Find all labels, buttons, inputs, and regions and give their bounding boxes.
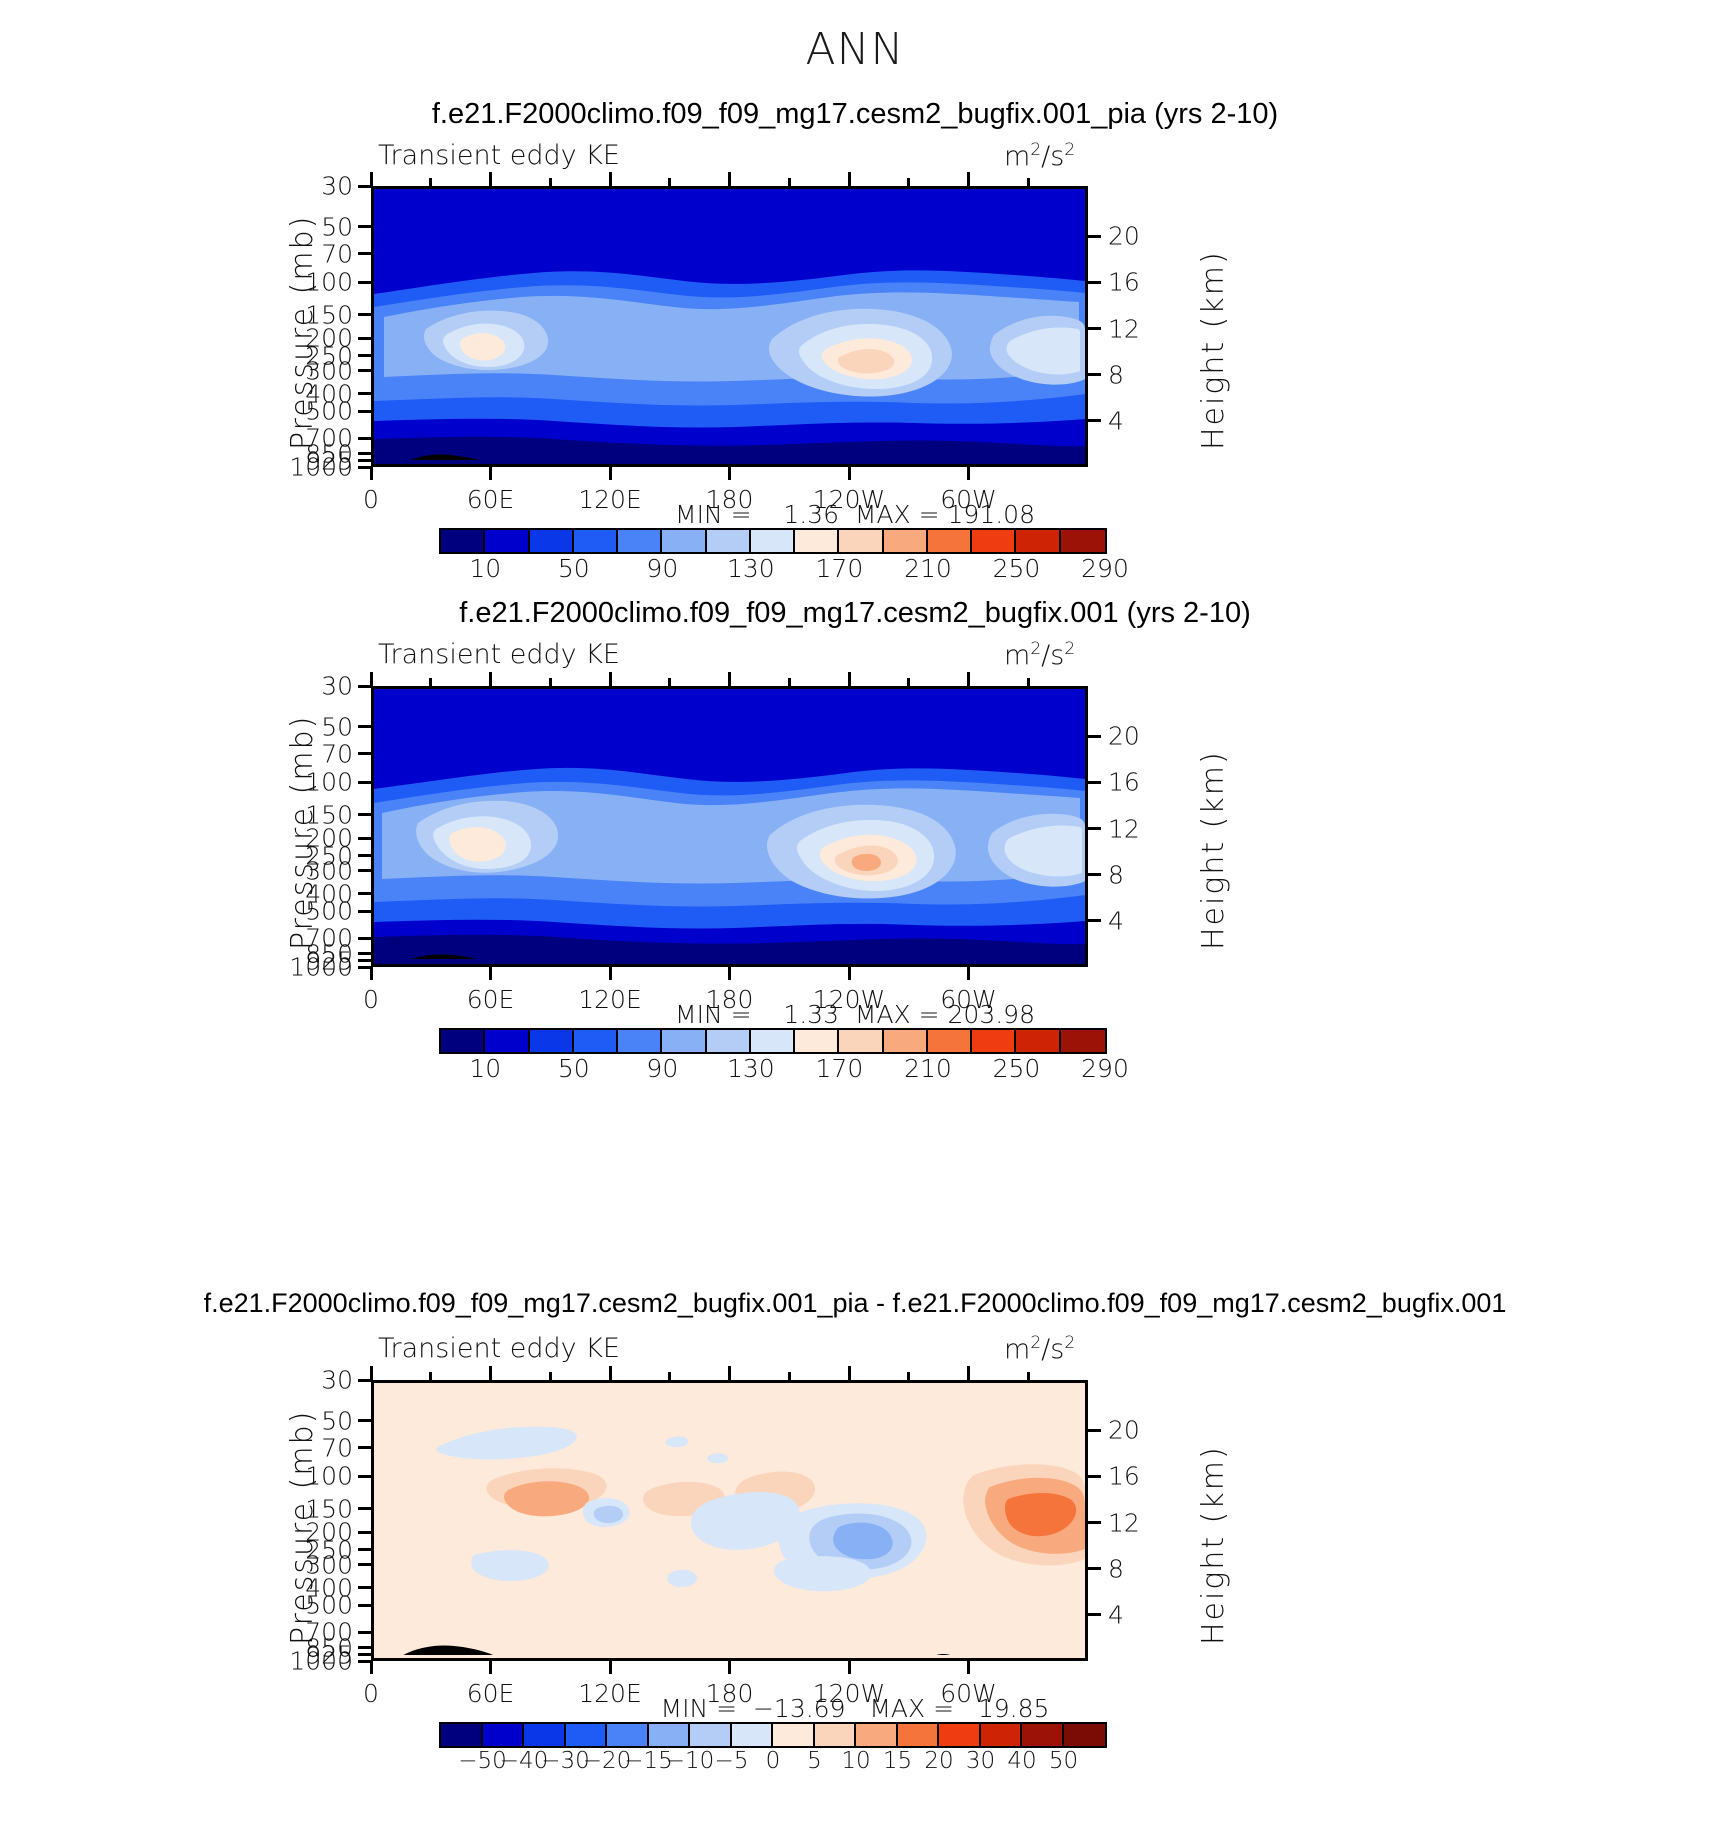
colorbar-label: 50 (558, 554, 590, 583)
panel-top-contours (374, 189, 1085, 464)
xtick-mark-top (609, 1366, 612, 1380)
xtick-mark-top-minor (429, 1372, 432, 1380)
ytick-label-30: 30 (241, 1366, 353, 1395)
season-title: ANN (0, 24, 1710, 75)
ytick-mark-right (1088, 281, 1101, 284)
ytick-mark-right (1088, 1521, 1101, 1524)
panel-diff-title: f.e21.F2000climo.f09_f09_mg17.cesm2_bugf… (0, 1288, 1710, 1319)
colorbar-swatch (1064, 1724, 1106, 1746)
xtick-mark-top (967, 172, 970, 186)
colorbar-swatch (884, 530, 928, 552)
colorbar-swatch (566, 1724, 608, 1746)
colorbar-swatch (618, 530, 662, 552)
colorbar-swatch (618, 1030, 662, 1052)
xtick-label-120E: 120E (578, 485, 642, 514)
xtick-mark-top-minor (668, 1372, 671, 1380)
colorbar-swatch (732, 1724, 774, 1746)
xtick-mark-top (489, 672, 492, 686)
ytick-label-50: 50 (241, 212, 353, 241)
colorbar-strip[interactable] (439, 528, 1107, 554)
xtick-label-60W: 60W (940, 985, 997, 1014)
xtick-label-0: 0 (363, 1679, 379, 1708)
panel-middle-plot (371, 686, 1088, 967)
colorbar-label: 250 (993, 1054, 1041, 1083)
colorbar-swatch (441, 1030, 485, 1052)
panel-middle-variable-label: Transient eddy KE (378, 639, 620, 670)
height-label-4: 4 (1108, 906, 1198, 935)
xtick-mark-top (728, 1366, 731, 1380)
xtick-mark-bottom (967, 467, 970, 480)
xtick-mark-top (370, 172, 373, 186)
ytick-mark-left (358, 225, 371, 228)
panel-top-plot (371, 186, 1088, 467)
colorbar-swatch (524, 1724, 566, 1746)
panel-top-title: f.e21.F2000climo.f09_f09_mg17.cesm2_bugf… (0, 98, 1710, 131)
panel-middle-units-label: m2/s2 (1004, 639, 1075, 671)
xtick-mark-top-minor (549, 678, 552, 686)
colorbar-swatch (815, 1724, 857, 1746)
colorbar-label: 130 (727, 554, 775, 583)
ytick-mark-left (358, 1586, 371, 1589)
ytick-label-500: 500 (241, 1591, 353, 1620)
colorbar-label: 210 (904, 554, 952, 583)
xtick-label-60E: 60E (467, 985, 515, 1014)
ytick-mark-left (358, 781, 371, 784)
panel-diff-contours (374, 1383, 1085, 1658)
xtick-mark-bottom (609, 467, 612, 480)
ytick-mark-left (358, 1548, 371, 1551)
xtick-mark-bottom (489, 967, 492, 980)
xtick-mark-top-minor (429, 178, 432, 186)
height-label-20: 20 (1108, 722, 1198, 751)
ytick-mark-right (1088, 1429, 1101, 1432)
colorbar-label: 5 (807, 1748, 822, 1774)
panel-diff-ylabel-right: Height (km) (1196, 1445, 1231, 1645)
colorbar-swatch (662, 1030, 706, 1052)
xtick-mark-bottom (609, 1661, 612, 1674)
xtick-mark-bottom (848, 967, 851, 980)
colorbar-label: 90 (646, 1054, 678, 1083)
colorbar-label: 15 (883, 1748, 912, 1774)
ytick-mark-left (358, 252, 371, 255)
ytick-mark-left (358, 459, 371, 462)
ytick-mark-left (358, 452, 371, 455)
ytick-mark-left (358, 1604, 371, 1607)
panel-middle-title: f.e21.F2000climo.f09_f09_mg17.cesm2_bugf… (0, 597, 1710, 630)
xtick-label-180: 180 (706, 485, 754, 514)
xtick-label-60E: 60E (467, 485, 515, 514)
ytick-label-1000: 1000 (241, 953, 353, 982)
ytick-mark-right (1088, 235, 1101, 238)
ytick-mark-left (358, 813, 371, 816)
xtick-label-60E: 60E (467, 1679, 515, 1708)
colorbar-swatch (662, 530, 706, 552)
xtick-mark-top-minor (1027, 178, 1030, 186)
ytick-mark-left (358, 1646, 371, 1649)
ytick-mark-left (358, 354, 371, 357)
ytick-mark-left (358, 437, 371, 440)
colorbar-label: 290 (1081, 1054, 1129, 1083)
ytick-label-30: 30 (241, 672, 353, 701)
colorbar-swatch (981, 1724, 1023, 1746)
ytick-label-70: 70 (241, 239, 353, 268)
xtick-mark-top-minor (907, 178, 910, 186)
xtick-label-0: 0 (363, 485, 379, 514)
xtick-mark-top (370, 1366, 373, 1380)
xtick-mark-top (848, 172, 851, 186)
colorbar-swatch (530, 530, 574, 552)
xtick-mark-top-minor (1027, 1372, 1030, 1380)
height-label-12: 12 (1108, 814, 1198, 843)
xtick-mark-bottom (967, 1661, 970, 1674)
panel-diff-plot (371, 1380, 1088, 1661)
colorbar-swatch (795, 530, 839, 552)
xtick-label-60W: 60W (940, 1679, 997, 1708)
colorbar-swatch (530, 1030, 574, 1052)
ytick-label-100: 100 (241, 768, 353, 797)
xtick-mark-top (370, 672, 373, 686)
colorbar-label: 170 (816, 554, 864, 583)
height-label-8: 8 (1108, 1554, 1198, 1583)
figure-root: ANN f.e21.F2000climo.f09_f09_mg17.cesm2_… (0, 0, 1710, 1843)
colorbar-swatch (972, 530, 1016, 552)
height-label-4: 4 (1108, 406, 1198, 435)
xtick-mark-top (848, 1366, 851, 1380)
xtick-label-120W: 120W (813, 1679, 885, 1708)
height-label-20: 20 (1108, 222, 1198, 251)
ytick-mark-left (358, 725, 371, 728)
colorbar-swatch (485, 1030, 529, 1052)
xtick-mark-bottom (370, 467, 373, 480)
panel-top-units-label: m2/s2 (1004, 140, 1075, 172)
colorbar-swatch (839, 1030, 883, 1052)
xtick-mark-bottom (609, 967, 612, 980)
xtick-label-120E: 120E (578, 985, 642, 1014)
ytick-label-1000: 1000 (241, 1647, 353, 1676)
xtick-label-180: 180 (706, 1679, 754, 1708)
ytick-label-500: 500 (241, 897, 353, 926)
colorbar-label: 0 (766, 1748, 781, 1774)
ytick-mark-right (1088, 1567, 1101, 1570)
height-label-16: 16 (1108, 768, 1198, 797)
ytick-mark-left (358, 959, 371, 962)
height-label-4: 4 (1108, 1600, 1198, 1629)
colorbar-label: 50 (558, 1054, 590, 1083)
colorbar-swatch (928, 530, 972, 552)
ytick-mark-left (358, 1531, 371, 1534)
colorbar-swatch (751, 530, 795, 552)
xtick-mark-bottom (728, 467, 731, 480)
ytick-mark-right (1088, 1613, 1101, 1616)
ytick-mark-right (1088, 919, 1101, 922)
colorbar-swatch (751, 1030, 795, 1052)
colorbar-label: 250 (993, 554, 1041, 583)
colorbar-swatch (441, 530, 485, 552)
ytick-label-500: 500 (241, 397, 353, 426)
xtick-mark-top-minor (549, 1372, 552, 1380)
panel-diff-variable-label: Transient eddy KE (378, 1333, 620, 1364)
panel-diff-colorbar[interactable]: −50−40−30−20−15−10−505101520304050 (439, 1722, 1107, 1780)
ytick-mark-right (1088, 735, 1101, 738)
xtick-label-60W: 60W (940, 485, 997, 514)
colorbar-swatch (1022, 1724, 1064, 1746)
colorbar-swatch (1061, 1030, 1105, 1052)
ytick-mark-left (358, 892, 371, 895)
ytick-label-100: 100 (241, 1462, 353, 1491)
ytick-mark-left (358, 1507, 371, 1510)
ytick-mark-left (358, 1446, 371, 1449)
ytick-mark-right (1088, 327, 1101, 330)
colorbar-swatch (898, 1724, 940, 1746)
colorbar-swatch (928, 1030, 972, 1052)
panel-top-colorbar[interactable]: 105090130170210250290 (439, 528, 1107, 586)
colorbar-swatch (649, 1724, 691, 1746)
xtick-mark-bottom (489, 1661, 492, 1674)
ytick-mark-left (358, 1631, 371, 1634)
xtick-mark-top-minor (907, 678, 910, 686)
panel-top-variable-label: Transient eddy KE (378, 140, 620, 171)
colorbar-swatch (1016, 1030, 1060, 1052)
xtick-mark-top-minor (788, 678, 791, 686)
ytick-mark-right (1088, 827, 1101, 830)
xtick-mark-top-minor (788, 178, 791, 186)
ytick-mark-left (358, 752, 371, 755)
xtick-mark-top-minor (668, 678, 671, 686)
ytick-label-30: 30 (241, 172, 353, 201)
panel-top-ylabel-right: Height (km) (1196, 250, 1231, 450)
colorbar-swatch (574, 530, 618, 552)
ytick-mark-left (358, 854, 371, 857)
colorbar-label: 210 (904, 1054, 952, 1083)
colorbar-strip[interactable] (439, 1028, 1107, 1054)
ytick-mark-left (358, 1419, 371, 1422)
ytick-mark-right (1088, 419, 1101, 422)
colorbar-label: 50 (1049, 1748, 1078, 1774)
ytick-mark-right (1088, 781, 1101, 784)
colorbar-strip[interactable] (439, 1722, 1107, 1748)
xtick-label-120E: 120E (578, 1679, 642, 1708)
ytick-mark-left (358, 937, 371, 940)
colorbar-swatch (1061, 530, 1105, 552)
xtick-mark-bottom (370, 967, 373, 980)
ytick-mark-right (1088, 373, 1101, 376)
xtick-mark-top (728, 672, 731, 686)
height-label-8: 8 (1108, 360, 1198, 389)
xtick-mark-top-minor (429, 678, 432, 686)
ytick-mark-left (358, 313, 371, 316)
panel-middle-contours (374, 689, 1085, 964)
xtick-mark-bottom (728, 1661, 731, 1674)
xtick-label-120W: 120W (813, 985, 885, 1014)
xtick-label-180: 180 (706, 985, 754, 1014)
ytick-mark-left (358, 1475, 371, 1478)
colorbar-swatch (441, 1724, 483, 1746)
xtick-mark-top (609, 672, 612, 686)
xtick-mark-bottom (728, 967, 731, 980)
ytick-mark-left (358, 952, 371, 955)
colorbar-swatch (607, 1724, 649, 1746)
height-label-16: 16 (1108, 1462, 1198, 1491)
xtick-mark-top (609, 172, 612, 186)
xtick-mark-top-minor (788, 1372, 791, 1380)
ytick-label-50: 50 (241, 712, 353, 741)
ytick-mark-left (358, 337, 371, 340)
ytick-mark-left (358, 410, 371, 413)
colorbar-label: 10 (469, 1054, 501, 1083)
height-label-8: 8 (1108, 860, 1198, 889)
ytick-label-70: 70 (241, 739, 353, 768)
colorbar-label: −5 (715, 1748, 749, 1774)
xtick-mark-bottom (848, 467, 851, 480)
colorbar-label: 30 (966, 1748, 995, 1774)
xtick-label-120W: 120W (813, 485, 885, 514)
xtick-mark-top (967, 1366, 970, 1380)
height-label-12: 12 (1108, 1508, 1198, 1537)
ytick-label-50: 50 (241, 1406, 353, 1435)
height-label-12: 12 (1108, 314, 1198, 343)
ytick-mark-left (358, 837, 371, 840)
xtick-label-0: 0 (363, 985, 379, 1014)
colorbar-swatch (795, 1030, 839, 1052)
ytick-mark-left (358, 369, 371, 372)
colorbar-swatch (884, 1030, 928, 1052)
xtick-mark-top-minor (549, 178, 552, 186)
colorbar-swatch (707, 530, 751, 552)
ytick-mark-left (358, 1653, 371, 1656)
colorbar-swatch (856, 1724, 898, 1746)
xtick-mark-top (967, 672, 970, 686)
xtick-mark-top-minor (1027, 678, 1030, 686)
colorbar-swatch (839, 530, 883, 552)
xtick-mark-top-minor (907, 1372, 910, 1380)
colorbar-label: 10 (841, 1748, 870, 1774)
colorbar-swatch (690, 1724, 732, 1746)
colorbar-label: −10 (666, 1748, 715, 1774)
colorbar-swatch (485, 530, 529, 552)
ytick-mark-right (1088, 873, 1101, 876)
colorbar-swatch (972, 1030, 1016, 1052)
colorbar-swatch (574, 1030, 618, 1052)
colorbar-label: 10 (469, 554, 501, 583)
colorbar-label: 20 (924, 1748, 953, 1774)
colorbar-label: 130 (727, 1054, 775, 1083)
colorbar-label: 170 (816, 1054, 864, 1083)
xtick-mark-top (489, 1366, 492, 1380)
ytick-mark-left (358, 281, 371, 284)
ytick-mark-left (358, 1563, 371, 1566)
xtick-mark-top (728, 172, 731, 186)
xtick-mark-bottom (489, 467, 492, 480)
xtick-mark-top (489, 172, 492, 186)
ytick-label-1000: 1000 (241, 453, 353, 482)
colorbar-swatch (707, 1030, 751, 1052)
panel-diff-units-label: m2/s2 (1004, 1333, 1075, 1365)
xtick-mark-bottom (848, 1661, 851, 1674)
colorbar-swatch (1016, 530, 1060, 552)
ytick-mark-right (1088, 1475, 1101, 1478)
ytick-mark-left (358, 392, 371, 395)
xtick-mark-bottom (370, 1661, 373, 1674)
panel-middle-colorbar[interactable]: 105090130170210250290 (439, 1028, 1107, 1086)
ytick-mark-left (358, 869, 371, 872)
colorbar-label: 90 (646, 554, 678, 583)
height-label-16: 16 (1108, 268, 1198, 297)
xtick-mark-top-minor (668, 178, 671, 186)
colorbar-label: 290 (1081, 554, 1129, 583)
colorbar-swatch (483, 1724, 525, 1746)
height-label-20: 20 (1108, 1416, 1198, 1445)
colorbar-swatch (773, 1724, 815, 1746)
colorbar-swatch (939, 1724, 981, 1746)
ytick-label-70: 70 (241, 1433, 353, 1462)
xtick-mark-bottom (967, 967, 970, 980)
ytick-label-100: 100 (241, 268, 353, 297)
panel-middle-ylabel-right: Height (km) (1196, 750, 1231, 950)
xtick-mark-top (848, 672, 851, 686)
ytick-mark-left (358, 910, 371, 913)
colorbar-label: 40 (1007, 1748, 1036, 1774)
